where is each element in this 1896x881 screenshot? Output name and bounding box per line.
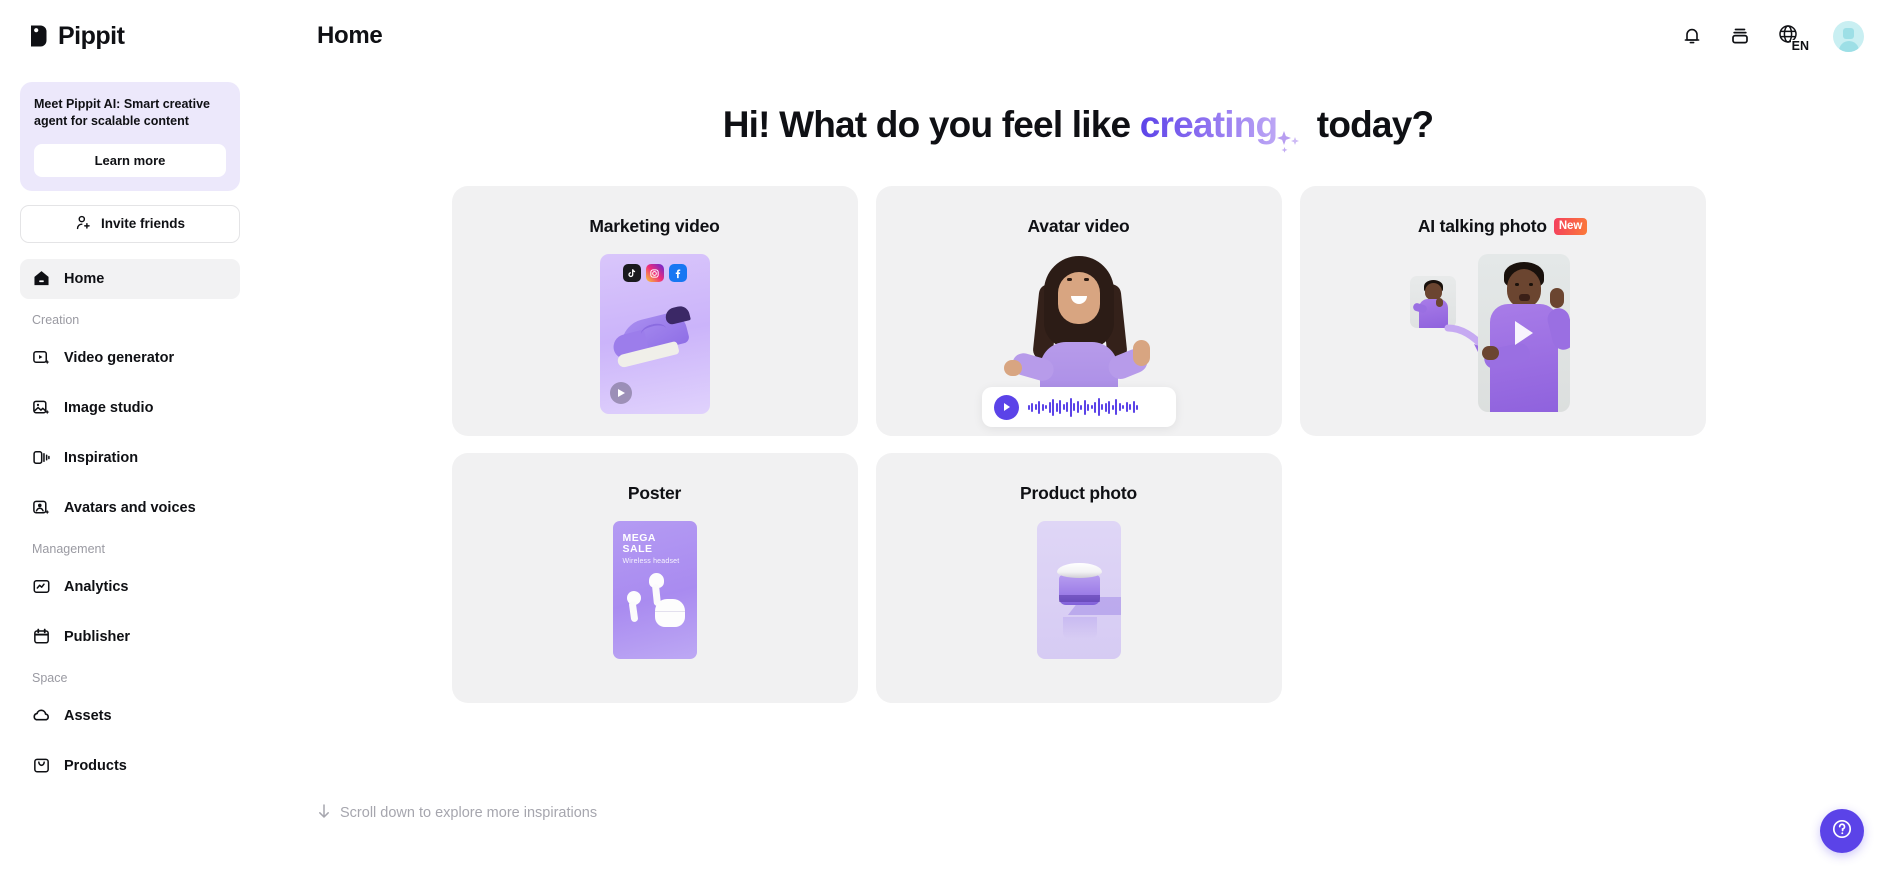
pippit-logo-icon bbox=[28, 23, 50, 49]
product-box-icon bbox=[32, 756, 51, 775]
sneaker-image bbox=[607, 303, 702, 370]
quick-start-cards: Marketing video bbox=[452, 186, 1705, 703]
generated-video-preview bbox=[1478, 254, 1570, 412]
avatar-video-art bbox=[876, 254, 1282, 436]
poster-headline: MEGA SALE bbox=[623, 533, 687, 554]
sidebar-item-label: Assets bbox=[64, 708, 112, 724]
promo-card: Meet Pippit AI: Smart creative agent for… bbox=[20, 82, 240, 191]
scroll-hint[interactable]: Scroll down to explore more inspirations bbox=[317, 803, 597, 823]
sidebar-item-analytics[interactable]: Analytics bbox=[20, 567, 240, 607]
sidebar-item-label: Publisher bbox=[64, 629, 130, 645]
bell-icon[interactable] bbox=[1681, 25, 1703, 47]
sidebar-nav: Home Creation Video generator bbox=[20, 259, 240, 786]
sidebar: Pippit Meet Pippit AI: Smart creative ag… bbox=[0, 0, 260, 881]
card-title: Marketing video bbox=[452, 186, 858, 237]
card-marketing-video[interactable]: Marketing video bbox=[452, 186, 858, 436]
play-icon[interactable] bbox=[610, 382, 632, 404]
image-sparkle-icon bbox=[32, 398, 51, 417]
person-add-icon bbox=[75, 214, 92, 234]
audio-player[interactable] bbox=[982, 387, 1176, 427]
heading-prefix: Hi! What do you feel like bbox=[723, 104, 1140, 145]
avatar-person-image bbox=[1014, 256, 1144, 406]
home-icon bbox=[32, 269, 51, 288]
card-title: Avatar video bbox=[876, 186, 1282, 237]
card-ai-talking-photo[interactable]: AI talking photoNew bbox=[1300, 186, 1706, 436]
tiktok-icon bbox=[623, 264, 641, 282]
card-title-text: AI talking photo bbox=[1418, 216, 1547, 236]
source-photo-thumbnail bbox=[1410, 276, 1456, 328]
sidebar-item-image-studio[interactable]: Image studio bbox=[20, 388, 240, 428]
tray-icon[interactable] bbox=[1729, 25, 1751, 47]
language-switcher[interactable]: EN bbox=[1777, 23, 1807, 49]
top-bar: Home bbox=[260, 0, 1896, 72]
poster-mock: MEGA SALE Wireless headset bbox=[613, 521, 697, 659]
card-product-photo[interactable]: Product photo bbox=[876, 453, 1282, 703]
instagram-icon bbox=[646, 264, 664, 282]
card-avatar-video[interactable]: Avatar video bbox=[876, 186, 1282, 436]
language-code: EN bbox=[1791, 40, 1809, 53]
sidebar-item-label: Analytics bbox=[64, 579, 128, 595]
main-content: Home bbox=[260, 0, 1896, 881]
sidebar-item-home[interactable]: Home bbox=[20, 259, 240, 299]
social-icons bbox=[600, 264, 710, 282]
marketing-video-art bbox=[452, 254, 858, 436]
product-photo-art bbox=[876, 521, 1282, 703]
learn-more-button[interactable]: Learn more bbox=[34, 144, 226, 177]
phone-mock bbox=[600, 254, 710, 414]
sidebar-item-label: Home bbox=[64, 271, 104, 287]
heading-suffix: today? bbox=[1307, 104, 1433, 145]
avatar-sparkle-icon bbox=[32, 498, 51, 517]
product-jar-image bbox=[1037, 521, 1121, 659]
avatar[interactable] bbox=[1833, 21, 1864, 52]
sidebar-item-label: Products bbox=[64, 758, 127, 774]
sidebar-group-management: Management bbox=[20, 542, 240, 556]
sidebar-item-publisher[interactable]: Publisher bbox=[20, 617, 240, 657]
heading-highlight: creating bbox=[1140, 104, 1278, 145]
page-heading: Hi! What do you feel like creating today… bbox=[260, 104, 1896, 146]
promo-text: Meet Pippit AI: Smart creative agent for… bbox=[34, 96, 226, 131]
brand-logo[interactable]: Pippit bbox=[20, 0, 240, 72]
status-badge: New bbox=[1554, 218, 1587, 235]
avatar-head bbox=[1843, 28, 1854, 39]
scroll-hint-label: Scroll down to explore more inspirations bbox=[340, 805, 597, 821]
arrow-down-icon bbox=[317, 803, 331, 823]
card-title: AI talking photoNew bbox=[1300, 186, 1706, 237]
facebook-icon bbox=[669, 264, 687, 282]
calendar-icon bbox=[32, 627, 51, 646]
poster-art: MEGA SALE Wireless headset bbox=[452, 521, 858, 703]
sidebar-item-label: Avatars and voices bbox=[64, 500, 196, 516]
avatar-body bbox=[1839, 41, 1859, 52]
page-title: Home bbox=[317, 22, 382, 50]
inspiration-cards-icon bbox=[32, 448, 51, 467]
invite-friends-button[interactable]: Invite friends bbox=[20, 205, 240, 243]
sidebar-item-products[interactable]: Products bbox=[20, 746, 240, 786]
video-sparkle-icon bbox=[32, 348, 51, 367]
sidebar-group-space: Space bbox=[20, 671, 240, 685]
invite-friends-label: Invite friends bbox=[101, 216, 185, 231]
card-poster[interactable]: Poster MEGA SALE Wireless headset bbox=[452, 453, 858, 703]
analytics-chart-icon bbox=[32, 577, 51, 596]
card-title: Poster bbox=[452, 453, 858, 504]
card-title: Product photo bbox=[876, 453, 1282, 504]
play-icon[interactable] bbox=[1515, 321, 1533, 345]
topbar-actions: EN bbox=[1681, 21, 1864, 52]
sidebar-item-avatars-and-voices[interactable]: Avatars and voices bbox=[20, 488, 240, 528]
sidebar-item-label: Inspiration bbox=[64, 450, 138, 466]
brand-name: Pippit bbox=[58, 22, 124, 51]
play-icon[interactable] bbox=[994, 395, 1019, 420]
ai-talking-photo-art bbox=[1300, 254, 1706, 436]
sidebar-item-label: Video generator bbox=[64, 350, 174, 366]
app-root: Pippit Meet Pippit AI: Smart creative ag… bbox=[0, 0, 1896, 881]
sparkles-icon bbox=[1277, 136, 1307, 137]
poster-subline: Wireless headset bbox=[623, 558, 687, 565]
audio-waveform bbox=[1028, 396, 1139, 418]
cloud-icon bbox=[32, 706, 51, 725]
sidebar-item-inspiration[interactable]: Inspiration bbox=[20, 438, 240, 478]
help-button[interactable] bbox=[1820, 809, 1864, 853]
sidebar-item-video-generator[interactable]: Video generator bbox=[20, 338, 240, 378]
sidebar-group-creation: Creation bbox=[20, 313, 240, 327]
sidebar-item-assets[interactable]: Assets bbox=[20, 696, 240, 736]
sidebar-item-label: Image studio bbox=[64, 400, 153, 416]
question-mark-icon bbox=[1830, 817, 1854, 846]
